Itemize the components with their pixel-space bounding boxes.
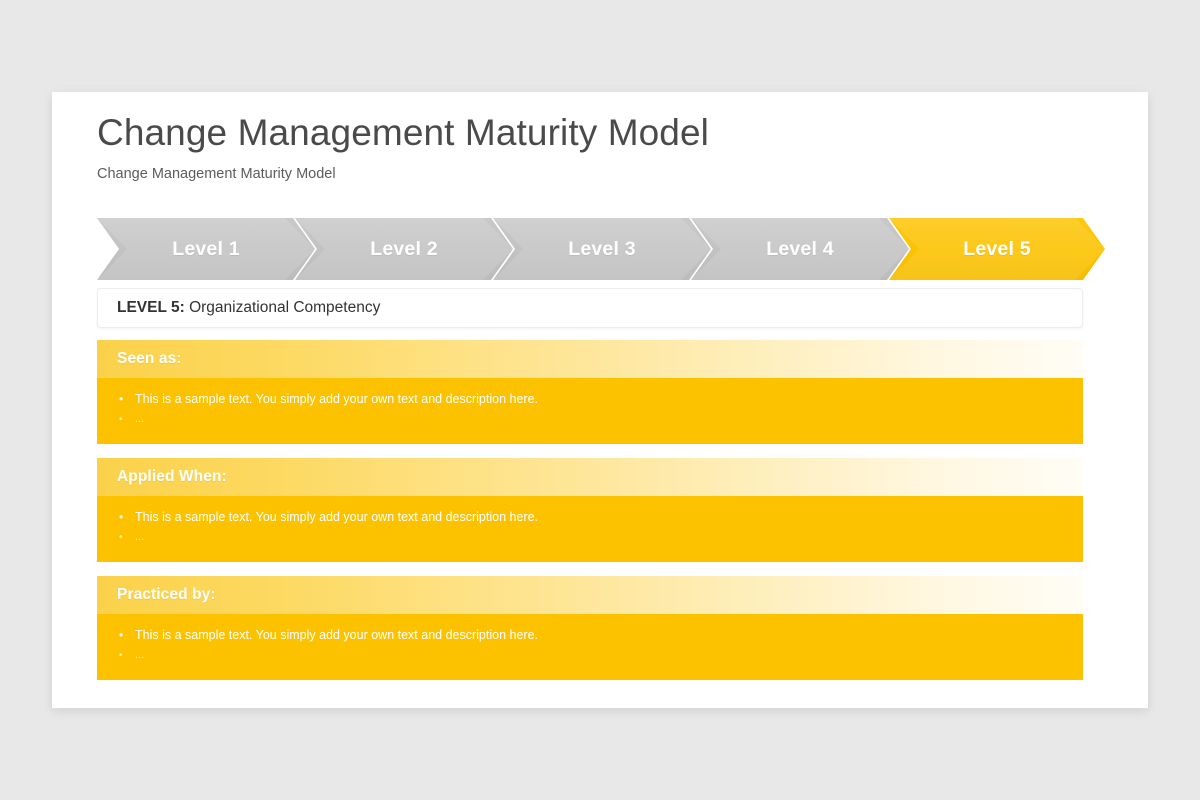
chevron-level-1-label: Level 1 [172,238,240,261]
list-item: • This is a sample text. You simply add … [97,508,1083,529]
chevron-level-5[interactable]: Level 5 [889,218,1105,280]
section-header: Seen as: [97,340,1083,378]
selected-level-title-box: LEVEL 5: Organizational Competency [97,288,1083,328]
slide-card: Change Management Maturity Model Change … [52,92,1148,708]
page-subtitle: Change Management Maturity Model [97,166,709,182]
chevron-level-2-label: Level 2 [370,238,438,261]
list-item: • ... [97,647,1083,668]
list-item-text: ... [135,411,144,428]
section-applied-when: Applied When: • This is a sample text. Y… [97,458,1083,562]
bullet-dot-icon: • [119,415,135,425]
chevron-level-3[interactable]: Level 3 [493,218,711,280]
list-item-text: ... [135,647,144,664]
list-item-text: This is a sample text. You simply add yo… [135,390,538,409]
page-title: Change Management Maturity Model [97,112,709,155]
section-header: Applied When: [97,458,1083,496]
bullet-dot-icon: • [119,533,135,543]
selected-level-name: Organizational Competency [189,299,380,316]
list-item-text: This is a sample text. You simply add yo… [135,626,538,645]
chevron-level-5-label: Level 5 [963,238,1031,261]
maturity-level-chevron-strip: Level 1 Level 2 Level 3 Level 4 Level 5 [97,218,1105,280]
level-detail-sections: Seen as: • This is a sample text. You si… [97,340,1083,680]
chevron-level-4[interactable]: Level 4 [691,218,909,280]
list-item-text: ... [135,529,144,546]
section-body: • This is a sample text. You simply add … [97,496,1083,562]
section-heading-label: Practiced by: [117,586,216,604]
bullet-dot-icon: • [119,651,135,661]
section-heading-label: Applied When: [117,468,227,486]
section-body: • This is a sample text. You simply add … [97,614,1083,680]
chevron-level-3-label: Level 3 [568,238,636,261]
chevron-level-1[interactable]: Level 1 [97,218,315,280]
bullet-dot-icon: • [119,393,135,405]
section-heading-label: Seen as: [117,350,182,368]
chevron-level-4-label: Level 4 [766,238,834,261]
bullet-dot-icon: • [119,511,135,523]
section-practiced-by: Practiced by: • This is a sample text. Y… [97,576,1083,680]
list-item-text: This is a sample text. You simply add yo… [135,508,538,527]
list-item: • This is a sample text. You simply add … [97,626,1083,647]
list-item: • This is a sample text. You simply add … [97,390,1083,411]
bullet-dot-icon: • [119,629,135,641]
section-seen-as: Seen as: • This is a sample text. You si… [97,340,1083,444]
selected-level-prefix: LEVEL 5: [117,299,185,316]
list-item: • ... [97,411,1083,432]
list-item: • ... [97,529,1083,550]
chevron-level-2[interactable]: Level 2 [295,218,513,280]
selected-level-title: LEVEL 5: Organizational Competency [117,299,380,317]
section-body: • This is a sample text. You simply add … [97,378,1083,444]
title-block: Change Management Maturity Model Change … [97,112,709,182]
section-header: Practiced by: [97,576,1083,614]
